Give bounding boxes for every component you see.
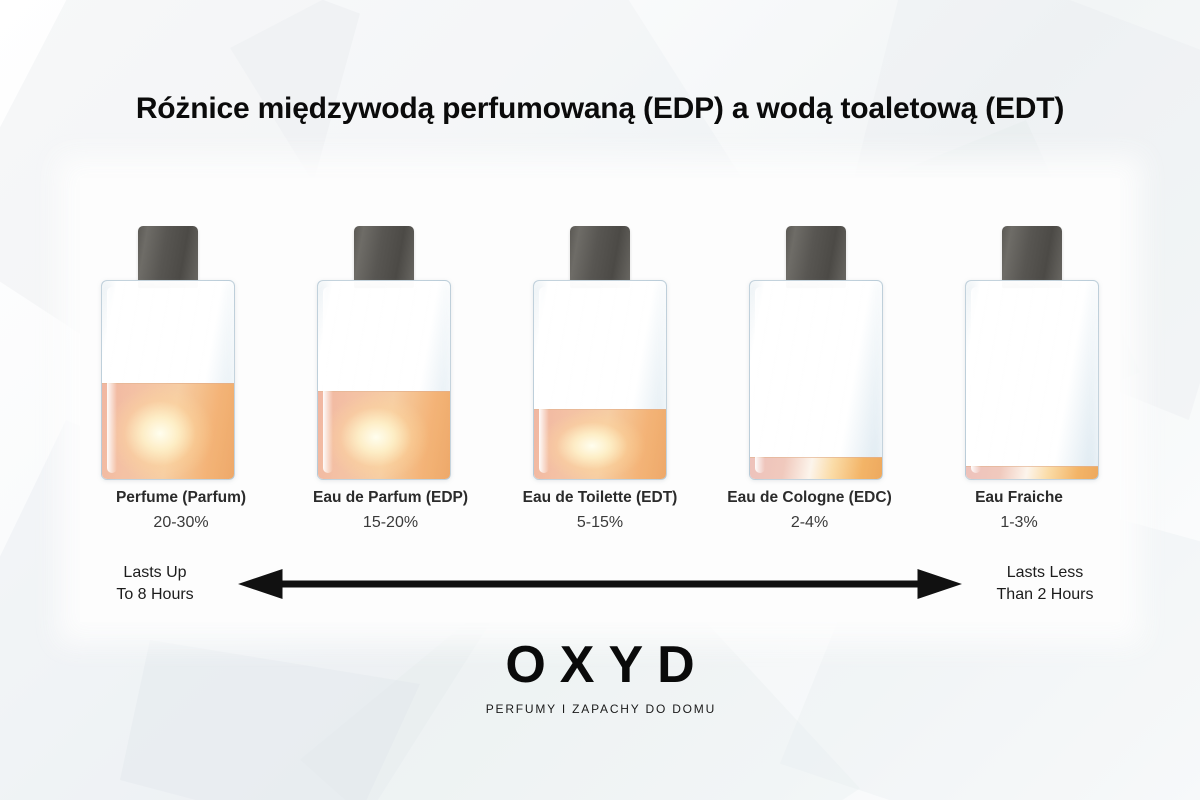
bottle-glass — [749, 280, 883, 480]
longevity-right-line2: Than 2 Hours — [970, 584, 1120, 606]
double-headed-arrow-icon — [236, 566, 964, 602]
longevity-scale: Lasts Up To 8 Hours Lasts Less Than 2 Ho… — [80, 556, 1120, 612]
bottle-name: Eau de Cologne (EDC) — [717, 488, 903, 508]
label-eau-de-toilette: Eau de Toilette (EDT) 5-15% — [507, 488, 693, 533]
bottle-glass — [317, 280, 451, 480]
page-title: Różnice międzywodą perfumowaną (EDP) a w… — [0, 92, 1200, 126]
bottle-percent: 5-15% — [507, 513, 693, 533]
bottle-cap-icon — [570, 226, 630, 288]
infographic-canvas: Różnice międzywodą perfumowaną (EDP) a w… — [0, 0, 1200, 800]
label-eau-de-cologne: Eau de Cologne (EDC) 2-4% — [717, 488, 903, 533]
bottle-liquid — [966, 466, 1098, 479]
longevity-right-line1: Lasts Less — [970, 562, 1120, 584]
bottle-percent: 1-3% — [926, 513, 1112, 533]
bottle-percent: 2-4% — [717, 513, 903, 533]
bottle-glass — [965, 280, 1099, 480]
bottle-liquid — [750, 457, 882, 479]
bottle-percent: 20-30% — [88, 513, 274, 533]
bottle-glass — [101, 280, 235, 480]
bottle-cap-icon — [1002, 226, 1062, 288]
label-perfume-parfum: Perfume (Parfum) 20-30% — [88, 488, 274, 533]
bottle-labels: Perfume (Parfum) 20-30% Eau de Parfum (E… — [80, 488, 1120, 533]
bottle-liquid — [534, 409, 666, 479]
bottle-glass — [533, 280, 667, 480]
bottle-eau-de-toilette — [520, 214, 680, 484]
brand-tagline: PERFUMY I ZAPACHY DO DOMU — [0, 701, 1200, 717]
longevity-note-right: Lasts Less Than 2 Hours — [970, 562, 1120, 606]
longevity-left-line1: Lasts Up — [80, 562, 230, 584]
bottle-name: Eau de Parfum (EDP) — [298, 488, 484, 508]
bottle-cap-icon — [354, 226, 414, 288]
bottle-liquid — [318, 391, 450, 479]
bottle-perfume-parfum — [88, 214, 248, 484]
bottle-cap-icon — [138, 226, 198, 288]
longevity-left-line2: To 8 Hours — [80, 584, 230, 606]
brand-lockup: OXYD PERFUMY I ZAPACHY DO DOMU — [0, 636, 1200, 717]
brand-name: OXYD — [0, 636, 1200, 694]
bottle-percent: 15-20% — [298, 513, 484, 533]
longevity-note-left: Lasts Up To 8 Hours — [80, 562, 230, 606]
bottle-name: Eau Fraiche — [926, 488, 1112, 508]
bottle-name: Eau de Toilette (EDT) — [507, 488, 693, 508]
bottle-name: Perfume (Parfum) — [88, 488, 274, 508]
bottle-eau-de-parfum — [304, 214, 464, 484]
bottle-cap-icon — [786, 226, 846, 288]
label-eau-de-parfum: Eau de Parfum (EDP) 15-20% — [298, 488, 484, 533]
bottle-liquid — [102, 383, 234, 479]
bottle-eau-fraiche — [952, 214, 1112, 484]
bottle-row — [80, 214, 1120, 484]
bottle-eau-de-cologne — [736, 214, 896, 484]
label-eau-fraiche: Eau Fraiche 1-3% — [926, 488, 1112, 533]
